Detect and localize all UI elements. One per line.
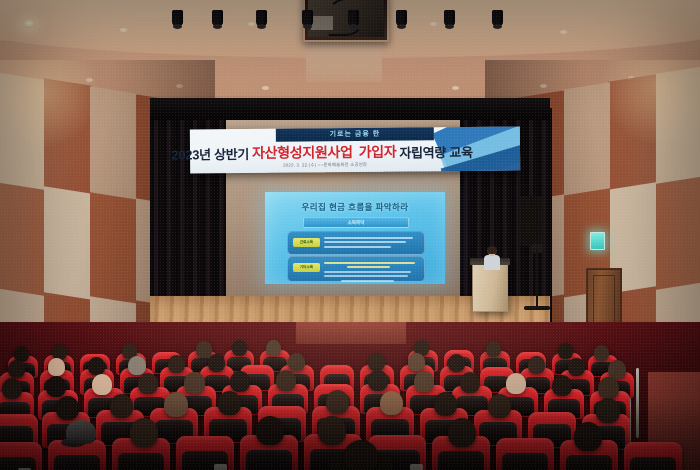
presenter-at-podium — [484, 247, 500, 269]
pa-speaker — [520, 196, 542, 246]
attendee-head — [168, 355, 185, 373]
projection-screen: 우리집 현금 흐름을 파악하라 소득파악 근로소득 기타소득 — [265, 192, 445, 284]
slide-content-box-1: 근로소득 — [287, 231, 425, 255]
attendee-head — [8, 360, 25, 378]
attendee-cap-icon — [66, 420, 96, 444]
slide-content-box-2: 기타소득 — [287, 256, 425, 282]
attendee-head — [232, 340, 247, 356]
attendee-head — [380, 391, 403, 415]
event-banner: 기로는 금융 한 2023년 상반기 자산형성지원사업 가입자 자립역량 교육 … — [190, 127, 520, 174]
attendee-head — [164, 392, 188, 417]
attendee-head — [184, 372, 205, 394]
stage-spotlight-icon — [256, 10, 267, 26]
attendee-head — [594, 345, 609, 361]
banner-year-term: 2023년 상반기 — [171, 143, 249, 163]
attendee-head — [486, 341, 501, 357]
slide-title: 우리집 현금 흐름을 파악하라 — [265, 201, 445, 213]
attendee-head — [288, 353, 305, 371]
stage-spotlight-icon — [212, 10, 223, 26]
mic-stand-pole — [536, 250, 538, 310]
stage-spotlight-icon — [348, 10, 359, 26]
attendee-head — [318, 416, 346, 445]
attendee-head — [256, 416, 284, 445]
slide-header-label: 소득파악 — [304, 218, 408, 227]
stage-spotlight-icon — [172, 10, 183, 26]
attendee-head — [552, 375, 572, 396]
attendee-head — [488, 394, 511, 418]
attendee-head — [528, 356, 545, 374]
attendee-head — [276, 370, 296, 391]
stage-spotlight-icon — [492, 10, 503, 26]
attendee-head — [2, 378, 22, 399]
slide-tag-1-label: 근로소득 — [293, 238, 320, 247]
emergency-exit-sign-icon — [590, 232, 605, 250]
stage-spotlight-icon — [302, 10, 313, 26]
attendee-head — [218, 391, 241, 415]
mic-stand-base — [524, 306, 550, 310]
slide-text-lines-1 — [324, 237, 419, 250]
attendee-head — [598, 377, 619, 399]
seat-number-plate — [410, 464, 423, 470]
attendee-head — [46, 376, 66, 397]
banner-top-strip: 기로는 금융 한 — [276, 127, 434, 141]
attendee-head — [110, 394, 133, 418]
attendee-head — [56, 396, 79, 420]
seating-area — [0, 322, 700, 470]
attendee-head — [230, 371, 250, 392]
attendee-head — [608, 360, 626, 379]
attendee-head — [130, 418, 158, 447]
attendee-head — [506, 373, 526, 394]
banner-course: 자립역량 교육 — [399, 141, 472, 161]
theater-seat[interactable] — [0, 442, 42, 470]
attendee-head — [138, 373, 158, 394]
attendee-head — [196, 341, 212, 358]
attendee-head — [128, 356, 146, 375]
attendee-head — [574, 422, 602, 451]
attendee-head — [408, 353, 425, 371]
attendee-head — [434, 392, 457, 416]
attendee-head — [266, 340, 281, 356]
slide-text-lines-2 — [324, 262, 419, 284]
auditorium-scene: 우리집 현금 흐름을 파악하라 소득파악 근로소득 기타소득 — [0, 0, 700, 470]
stage-spotlight-icon — [396, 10, 407, 26]
banner-program-name: 자산형성지원사업 — [252, 142, 353, 163]
attendee-head — [326, 390, 349, 414]
lighting-truss — [150, 98, 550, 120]
downlight-icon — [22, 20, 36, 28]
stage-spotlight-icon — [444, 10, 455, 26]
banner-participant: 가입자 — [359, 142, 397, 162]
attendee-head — [596, 398, 620, 423]
slide-tag-1: 근로소득 — [293, 238, 320, 247]
attendee-head — [558, 343, 573, 359]
attendee-head — [92, 374, 112, 395]
attendee-head — [88, 357, 105, 375]
slide-tag-2: 기타소득 — [293, 263, 320, 272]
attendee-head — [414, 371, 434, 392]
attendee-head — [208, 354, 225, 372]
slide-header-box: 소득파악 — [303, 217, 409, 228]
seat-number-plate — [214, 464, 227, 470]
banner-top-text: 기로는 금융 한 — [276, 127, 434, 141]
attendee-head — [368, 353, 385, 371]
attendee-head — [460, 372, 480, 393]
theater-seat[interactable] — [624, 442, 682, 470]
projection-booth-skirt — [306, 36, 382, 82]
theater-seat[interactable] — [496, 438, 554, 470]
attendee-head — [344, 440, 378, 470]
attendee-head — [568, 358, 585, 376]
projection-booth-window — [303, 0, 389, 42]
attendee-head — [48, 358, 65, 376]
banner-subtitle: 2023. 3. 22.(수) ○○문화예술회관 소공연장 — [190, 161, 460, 169]
slide-tag-2-label: 기타소득 — [293, 263, 320, 272]
attendee-head — [368, 370, 388, 391]
attendee-head — [448, 418, 476, 447]
banner-title: 2023년 상반기 자산형성지원사업 가입자 자립역량 교육 — [198, 141, 446, 163]
attendee-head — [448, 354, 465, 372]
